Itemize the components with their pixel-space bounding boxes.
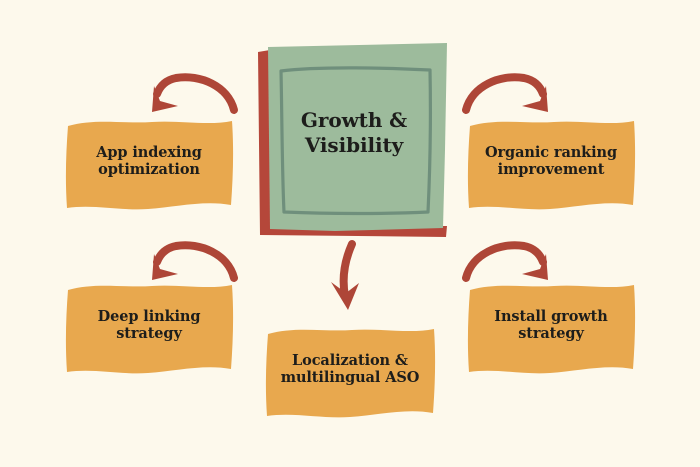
arrow-to-localization (331, 244, 359, 310)
arrow-to-organic-ranking (466, 77, 548, 112)
node-organic-ranking[interactable]: Organic ranking improvement (468, 118, 634, 204)
arrow-to-app-indexing (152, 77, 234, 112)
node-deep-linking-label: Deep linking strategy (98, 308, 201, 342)
node-install-growth[interactable]: Install growth strategy (468, 282, 634, 368)
arrow-to-install-growth (466, 245, 548, 280)
node-localization[interactable]: Localization & multilingual ASO (266, 326, 434, 412)
node-app-indexing[interactable]: App indexing optimization (66, 118, 232, 204)
node-organic-ranking-label: Organic ranking improvement (485, 144, 617, 178)
node-app-indexing-label: App indexing optimization (96, 144, 202, 178)
arrow-to-deep-linking (152, 245, 234, 280)
node-deep-linking[interactable]: Deep linking strategy (66, 282, 232, 368)
center-node-label: Growth & Visibility (301, 108, 407, 158)
node-localization-label: Localization & multilingual ASO (281, 352, 420, 386)
node-install-growth-label: Install growth strategy (494, 308, 607, 342)
diagram-canvas: Growth & Visibility App indexing optimiz… (0, 0, 700, 467)
center-node[interactable]: Growth & Visibility (262, 42, 446, 224)
